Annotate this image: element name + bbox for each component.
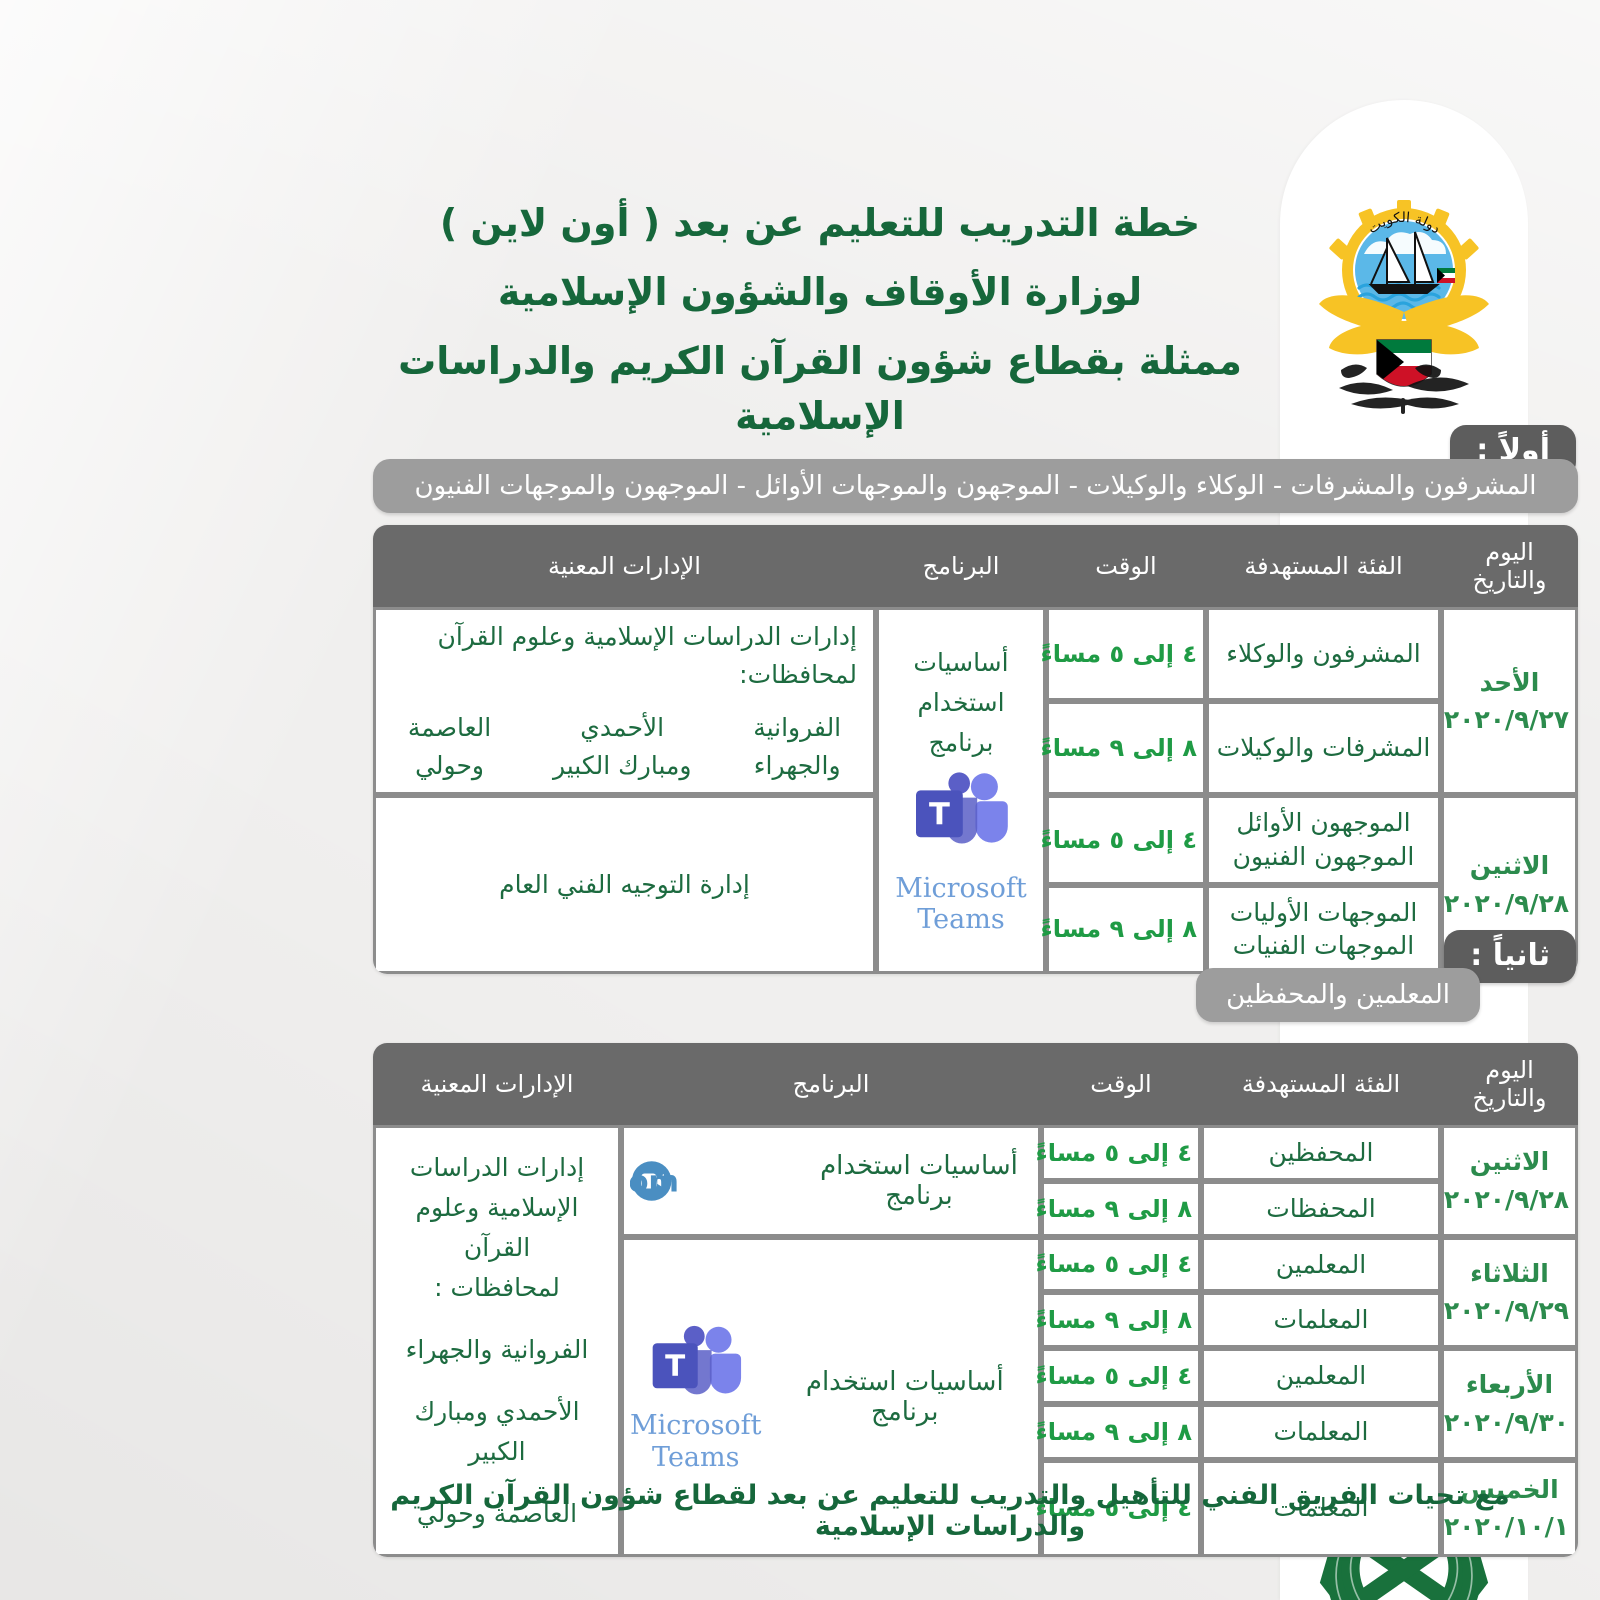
title-line-3: ممثلة بقطاع شؤون القرآن الكريم والدراسات… (370, 334, 1270, 444)
cell-program-zoom: أساسيات استخدام برنامج zoom (621, 1125, 1041, 1237)
cell-category: المشرفون والوكلاء (1206, 607, 1441, 701)
cell-time: ٤ إلى ٥ مساءً (1041, 1237, 1201, 1293)
microsoft-teams-logo: T Microsoft Teams (630, 1320, 762, 1472)
departments-heading-l2: الإسلامية وعلوم القرآن (382, 1188, 612, 1268)
th-time: الوقت (1046, 525, 1206, 607)
program-text-line-2: استخدام (917, 686, 1004, 720)
th-category: الفئة المستهدفة (1201, 1043, 1441, 1125)
cell-departments-top: إدارات الدراسات الإسلامية وعلوم القرآن ل… (373, 607, 876, 795)
date-number: ٢٠٢٠/٩/٣٠ (1450, 1404, 1569, 1442)
date-number: ٢٠٢٠/٩/٢٨ (1450, 1181, 1569, 1219)
date-day: الأحد (1450, 664, 1569, 702)
cell-time: ٨ إلى ٩ مساءً (1046, 885, 1206, 975)
teams-logo-label: Microsoft Teams (630, 1410, 762, 1472)
departments-heading-l3: لمحافظات : (382, 1268, 612, 1308)
cell-category: المعلمات (1201, 1404, 1441, 1460)
cell-time: ٤ إلى ٥ مساءً (1041, 1125, 1201, 1181)
cell-category: المحفظين (1201, 1125, 1441, 1181)
th-category: الفئة المستهدفة (1206, 525, 1441, 607)
date-day: الاثنين (1450, 1143, 1569, 1181)
date-number: ٢٠٢٠/٩/٢٩ (1450, 1292, 1569, 1330)
cell-category: المعلمات (1201, 1292, 1441, 1348)
th-date: اليوم والتاريخ (1441, 1043, 1578, 1125)
cell-category: الموجهون الأوائل الموجهون الفنيون (1206, 795, 1441, 885)
program-text-line-3: برنامج (929, 726, 994, 760)
departments-heading-l1: إدارات الدراسات (382, 1148, 612, 1188)
table-row: الأحد ٢٠٢٠/٩/٢٧ المشرفون والوكلاء ٤ إلى … (373, 607, 1578, 701)
th-departments: الإدارات المعنية (373, 1043, 621, 1125)
title-line-1: خطة التدريب للتعليم عن بعد ( أون لاين ) (370, 196, 1270, 251)
teams-logo-label: Microsoft Teams (895, 873, 1027, 935)
cell-category: المعلمين (1201, 1237, 1441, 1293)
program-text-zoom: أساسيات استخدام برنامج (806, 1151, 1032, 1211)
cell-time: ٤ إلى ٥ مساءً (1046, 607, 1206, 701)
cell-program: أساسيات استخدام برنامج T (876, 607, 1046, 974)
th-departments: الإدارات المعنية (373, 525, 876, 607)
date-number: ٢٠٢٠/٩/٢٨ (1450, 885, 1569, 923)
department-column: الأحمدي ومبارك الكبير (553, 709, 692, 784)
cell-date: الأحد ٢٠٢٠/٩/٢٧ (1441, 607, 1578, 795)
cell-date: الأربعاء ٢٠٢٠/٩/٣٠ (1441, 1348, 1578, 1460)
program-text-line-1: أساسيات (913, 646, 1008, 680)
date-day: الثلاثاء (1450, 1255, 1569, 1293)
table2-header-row: اليوم والتاريخ الفئة المستهدفة الوقت الب… (373, 1043, 1578, 1125)
cell-time: ٨ إلى ٩ مساءً (1046, 701, 1206, 795)
date-day: الأربعاء (1450, 1366, 1569, 1404)
th-time: الوقت (1041, 1043, 1201, 1125)
cell-category: المشرفات والوكيلات (1206, 701, 1441, 795)
zoom-logo: zoom (630, 1158, 790, 1204)
cell-category: المعلمين (1201, 1348, 1441, 1404)
cell-category: المحفظات (1201, 1181, 1441, 1237)
training-table-section-1: اليوم والتاريخ الفئة المستهدفة الوقت الب… (373, 525, 1578, 974)
cell-time: ٤ إلى ٥ مساءً (1046, 795, 1206, 885)
section-2-audience-bar: المعلمين والمحفظين (1196, 968, 1480, 1022)
th-program: البرنامج (876, 525, 1046, 607)
cell-date: الاثنين ٢٠٢٠/٩/٢٨ (1441, 1125, 1578, 1237)
department-item: الفروانية والجهراء (382, 1330, 612, 1370)
cell-departments-bottom: إدارة التوجيه الفني العام (373, 795, 876, 974)
svg-text:T: T (929, 797, 950, 832)
th-date: اليوم والتاريخ (1441, 525, 1578, 607)
section-1-audience-bar: المشرفون والمشرفات - الوكلاء والوكيلات -… (373, 459, 1578, 513)
svg-text:T: T (665, 1350, 685, 1384)
departments-heading: إدارات الدراسات الإسلامية وعلوم القرآن ل… (382, 618, 867, 693)
title-line-2: لوزارة الأوقاف والشؤون الإسلامية (370, 265, 1270, 320)
kuwait-state-emblem: دولة الكويت (1309, 192, 1499, 422)
infographic-page: دولة الكويت (0, 0, 1600, 1600)
program-text-teams: أساسيات استخدام برنامج (778, 1367, 1032, 1427)
cell-time: ٤ إلى ٥ مساءً (1041, 1348, 1201, 1404)
cell-category: الموجهات الأوليات الموجهات الفنيات (1206, 885, 1441, 975)
department-item: الأحمدي ومبارك الكبير (382, 1392, 612, 1472)
date-number: ٢٠٢٠/٩/٢٧ (1450, 701, 1569, 739)
department-column: الفروانية والجهراء (753, 709, 841, 784)
date-day: الاثنين (1450, 847, 1569, 885)
cell-time: ٨ إلى ٩ مساءً (1041, 1404, 1201, 1460)
cell-time: ٨ إلى ٩ مساءً (1041, 1181, 1201, 1237)
page-title-block: خطة التدريب للتعليم عن بعد ( أون لاين ) … (370, 196, 1270, 444)
table1-header-row: اليوم والتاريخ الفئة المستهدفة الوقت الب… (373, 525, 1578, 607)
department-column: العاصمة وحولي (408, 709, 491, 784)
table-row: الاثنين ٢٠٢٠/٩/٢٨ المحفظين ٤ إلى ٥ مساءً… (373, 1125, 1578, 1181)
svg-text:zoom: zoom (630, 1164, 679, 1198)
microsoft-teams-logo: T (907, 766, 1015, 867)
th-program: البرنامج (621, 1043, 1041, 1125)
cell-date: الثلاثاء ٢٠٢٠/٩/٢٩ (1441, 1237, 1578, 1349)
footer-credit: مع تحيات الفريق الفني للتأهيل والتدريب ل… (390, 1480, 1510, 1542)
cell-time: ٨ إلى ٩ مساءً (1041, 1292, 1201, 1348)
